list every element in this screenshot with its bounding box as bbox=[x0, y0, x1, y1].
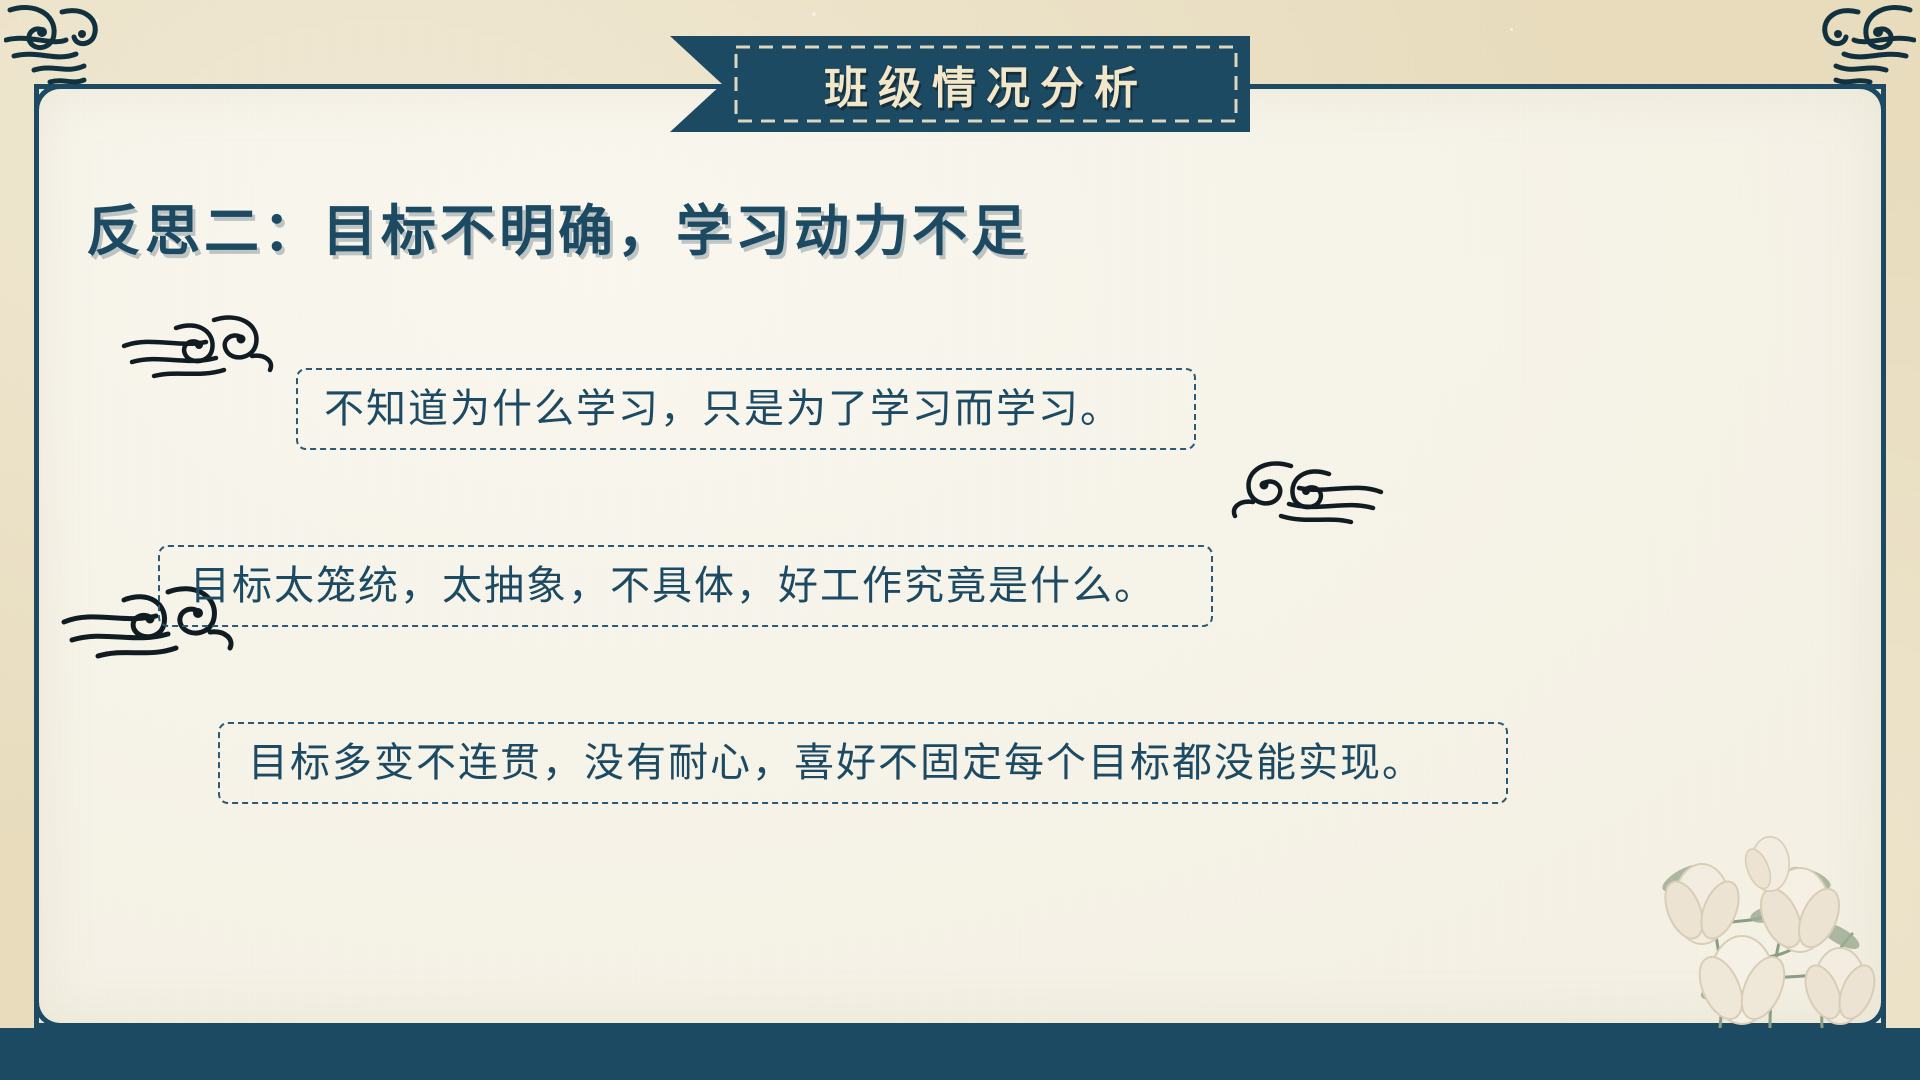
paper-speck bbox=[812, 12, 816, 16]
statement-text: 不知道为什么学习，只是为了学习而学习。 bbox=[324, 389, 1122, 429]
statement-text: 目标太笼统，太抽象，不具体，好工作究竟是什么。 bbox=[190, 566, 1156, 606]
paper-speck bbox=[96, 19, 99, 22]
footer-bar bbox=[0, 1028, 1920, 1080]
frame-border-right bbox=[1881, 84, 1886, 1028]
statement-box: 目标太笼统，太抽象，不具体，好工作究竟是什么。 bbox=[158, 545, 1213, 627]
paper-speck bbox=[1510, 28, 1513, 31]
statement-box: 目标多变不连贯，没有耐心，喜好不固定每个目标都没能实现。 bbox=[218, 722, 1508, 804]
slide-canvas: 班级情况分析 反思二：目标不明确，学习动力不足 bbox=[0, 0, 1920, 1080]
statement-box: 不知道为什么学习，只是为了学习而学习。 bbox=[296, 368, 1196, 450]
frame-corner-bottom-right bbox=[1835, 977, 1886, 1028]
frame-corner-bottom-left bbox=[34, 977, 85, 1028]
statement-text: 目标多变不连贯，没有耐心，喜好不固定每个目标都没能实现。 bbox=[248, 743, 1424, 783]
frame-border-left bbox=[34, 84, 39, 1028]
page-title: 反思二：目标不明确，学习动力不足 bbox=[86, 186, 1030, 266]
title-ribbon: 班级情况分析 bbox=[670, 36, 1250, 132]
frame-corner-top-right bbox=[1835, 84, 1886, 135]
banner-title: 班级情况分析 bbox=[670, 36, 1250, 132]
frame-corner-top-left bbox=[34, 84, 85, 135]
